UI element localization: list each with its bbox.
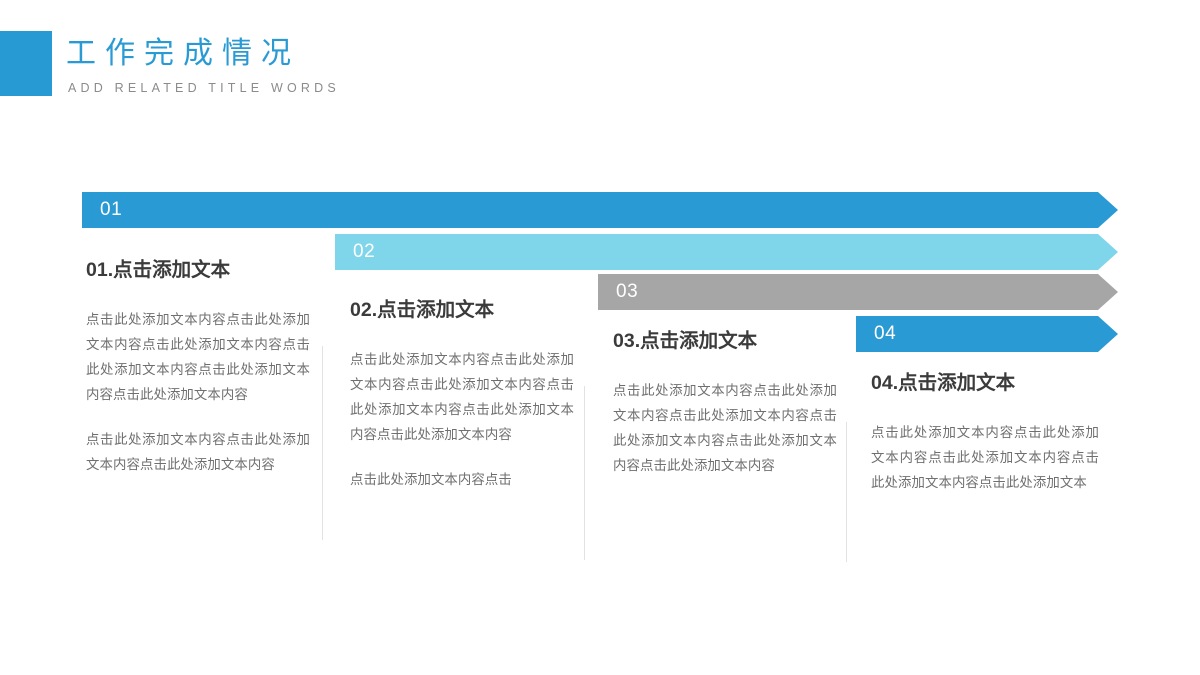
arrow-body-01: 01 (82, 192, 1098, 228)
content-column-03: 03.点击添加文本 点击此处添加文本内容点击此处添加文本内容点击此处添加文本内容… (613, 328, 837, 478)
arrow-number-03: 03 (616, 274, 638, 310)
column-heading-02: 02.点击添加文本 (350, 297, 574, 323)
column-heading-04: 04.点击添加文本 (871, 370, 1099, 396)
arrow-tip-icon-02 (1098, 234, 1118, 270)
arrow-number-02: 02 (353, 234, 375, 270)
column-paragraph-02-1: 点击此处添加文本内容点击此处添加文本内容点击此处添加文本内容点击此处添加文本内容… (350, 347, 574, 447)
header-accent-block (0, 31, 52, 96)
arrow-tip-icon-01 (1098, 192, 1118, 228)
arrow-body-03: 03 (598, 274, 1098, 310)
arrow-body-02: 02 (335, 234, 1098, 270)
arrow-number-01: 01 (100, 192, 122, 228)
arrow-bar-02[interactable]: 02 (335, 234, 1118, 270)
column-heading-01: 01.点击添加文本 (86, 257, 310, 283)
column-paragraph-01-2: 点击此处添加文本内容点击此处添加文本内容点击此处添加文本内容 (86, 427, 310, 477)
column-paragraph-03-1: 点击此处添加文本内容点击此处添加文本内容点击此处添加文本内容点击此处添加文本内容… (613, 378, 837, 478)
column-heading-03: 03.点击添加文本 (613, 328, 837, 354)
arrow-bar-03[interactable]: 03 (598, 274, 1118, 310)
column-paragraph-02-2: 点击此处添加文本内容点击 (350, 467, 574, 492)
column-divider-3 (846, 422, 847, 562)
content-column-02: 02.点击添加文本 点击此处添加文本内容点击此处添加文本内容点击此处添加文本内容… (350, 297, 574, 492)
column-divider-1 (322, 346, 323, 540)
content-column-01: 01.点击添加文本 点击此处添加文本内容点击此处添加文本内容点击此处添加文本内容… (86, 257, 310, 477)
arrow-tip-icon-04 (1098, 316, 1118, 352)
page-subtitle: ADD RELATED TITLE WORDS (68, 80, 340, 96)
arrow-number-04: 04 (874, 316, 896, 352)
column-paragraph-01-1: 点击此处添加文本内容点击此处添加文本内容点击此处添加文本内容点击此处添加文本内容… (86, 307, 310, 407)
arrow-tip-icon-03 (1098, 274, 1118, 310)
slide-canvas: 工作完成情况 ADD RELATED TITLE WORDS 01 02 03 … (0, 0, 1200, 675)
arrow-bar-04[interactable]: 04 (856, 316, 1118, 352)
arrow-bar-01[interactable]: 01 (82, 192, 1118, 228)
page-title: 工作完成情况 (66, 34, 300, 74)
arrow-body-04: 04 (856, 316, 1098, 352)
column-divider-2 (584, 386, 585, 560)
content-column-04: 04.点击添加文本 点击此处添加文本内容点击此处添加文本内容点击此处添加文本内容… (871, 370, 1099, 495)
column-paragraph-04-1: 点击此处添加文本内容点击此处添加文本内容点击此处添加文本内容点击此处添加文本内容… (871, 420, 1099, 495)
